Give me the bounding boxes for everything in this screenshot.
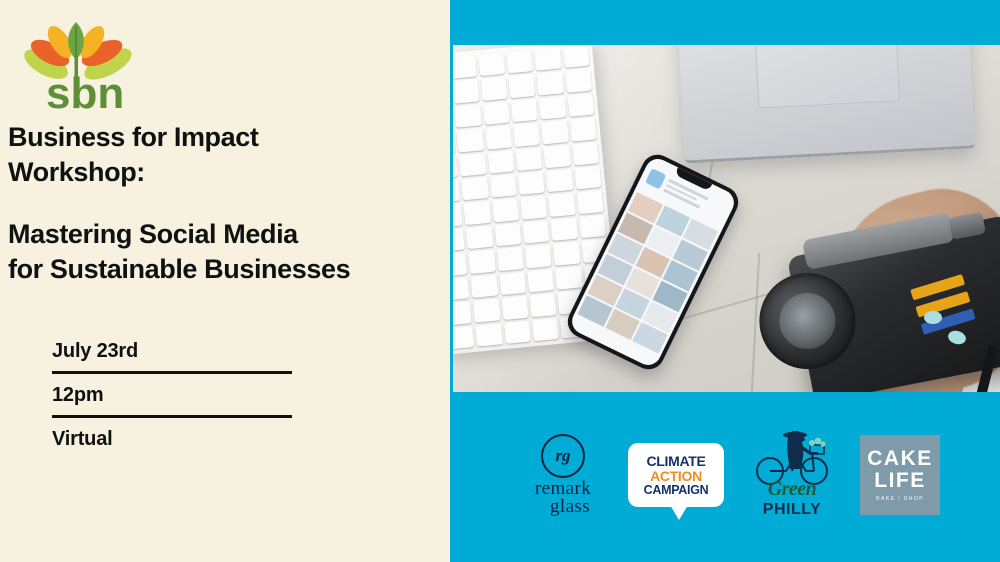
- sbn-logo: sbn: [20, 16, 140, 116]
- left-content-panel: sbn Business for Impact Workshop: Master…: [0, 0, 450, 562]
- svg-text:sbn: sbn: [46, 69, 124, 116]
- event-date: July 23rd: [52, 340, 292, 371]
- sponsor-remark-glass[interactable]: rg remark glass: [520, 434, 606, 516]
- cake-life-line-1: CAKE: [867, 448, 933, 469]
- camera-dial: [948, 212, 986, 240]
- cac-line-2: ACTION: [636, 469, 716, 484]
- divider-2: [52, 415, 292, 418]
- title-line-2: Workshop:: [8, 155, 443, 190]
- event-details: July 23rd 12pm Virtual: [52, 340, 292, 459]
- cake-life-subtitle: BAKE / SHOP: [876, 496, 924, 502]
- cac-line-1: CLIMATE: [636, 454, 716, 469]
- photo-scene: [453, 45, 1000, 392]
- camera-grip-stripes: [910, 274, 980, 349]
- camera-lens-glass: [775, 288, 841, 354]
- remark-glass-monogram: rg: [541, 434, 585, 478]
- divider-1: [52, 371, 292, 374]
- sponsor-logo-row: rg remark glass CLIMATE ACTION CAMPAIGN: [520, 420, 940, 530]
- green-philly-word-1: Green: [746, 478, 838, 501]
- laptop-trackpad: [754, 45, 900, 109]
- sponsor-cake-life[interactable]: CAKE LIFE BAKE / SHOP: [860, 435, 940, 515]
- title-line-4: for Sustainable Businesses: [8, 252, 443, 287]
- fingernail: [924, 311, 942, 324]
- cac-line-3: CAMPAIGN: [636, 484, 716, 498]
- sponsor-climate-action-campaign[interactable]: CLIMATE ACTION CAMPAIGN: [628, 443, 724, 508]
- remark-glass-word-2: glass: [534, 498, 606, 516]
- leaf-flower-icon: sbn: [20, 16, 140, 116]
- hero-photo: [453, 45, 1000, 392]
- cake-life-line-2: LIFE: [874, 470, 926, 491]
- event-location: Virtual: [52, 428, 292, 459]
- profile-avatar: [645, 168, 666, 189]
- camera: [787, 215, 1000, 392]
- laptop: [677, 45, 975, 163]
- title-block: Business for Impact Workshop: Mastering …: [8, 120, 443, 286]
- event-time: 12pm: [52, 384, 292, 415]
- event-flyer: sbn Business for Impact Workshop: Master…: [0, 0, 1000, 562]
- title-spacer: [8, 189, 443, 217]
- title-line-1: Business for Impact: [8, 120, 443, 155]
- title-line-3: Mastering Social Media: [8, 217, 443, 252]
- green-philly-word-2: PHILLY: [746, 501, 838, 519]
- sponsor-green-philly[interactable]: Green PHILLY: [746, 431, 838, 519]
